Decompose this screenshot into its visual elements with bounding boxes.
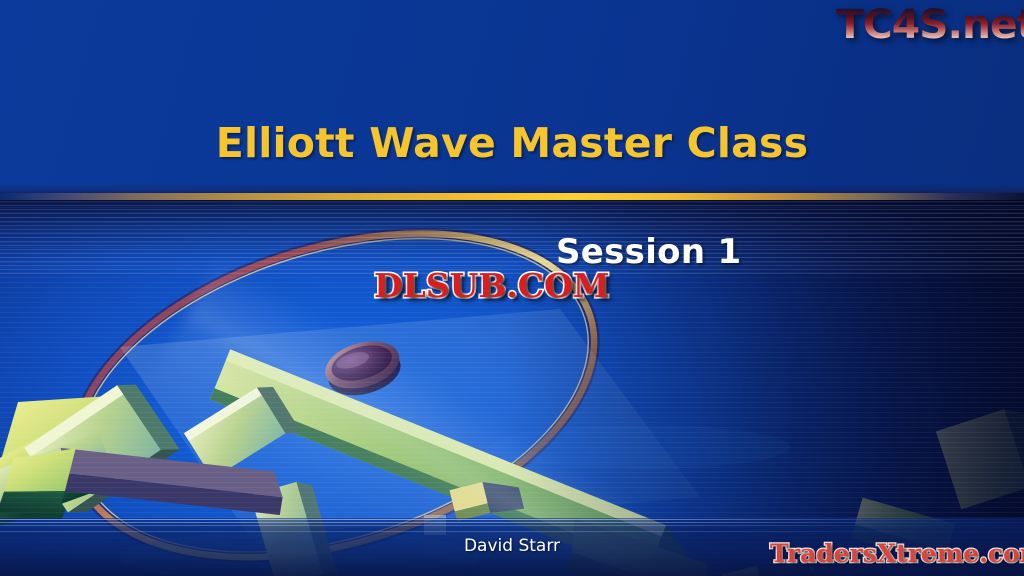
footer-line-3 xyxy=(0,525,1024,526)
footer-line-2 xyxy=(0,522,1024,523)
footer-accent-lines xyxy=(0,519,1024,535)
watermark-tc4s-logo: TC4S.net xyxy=(836,2,1024,48)
watermark-tradersxtreme-logo: TradersXtreme.com xyxy=(770,539,1024,568)
scanline-texture-upper xyxy=(0,201,1024,275)
watermark-dlsub-logo: DLSUB.COM xyxy=(374,266,609,305)
footer-line-4 xyxy=(0,531,1024,532)
presentation-slide: Elliott Wave Master Class Session 1 Davi… xyxy=(0,0,1024,576)
gold-divider-line xyxy=(0,193,1024,200)
footer-line-1 xyxy=(0,519,1024,520)
slide-title: Elliott Wave Master Class xyxy=(0,119,1024,167)
